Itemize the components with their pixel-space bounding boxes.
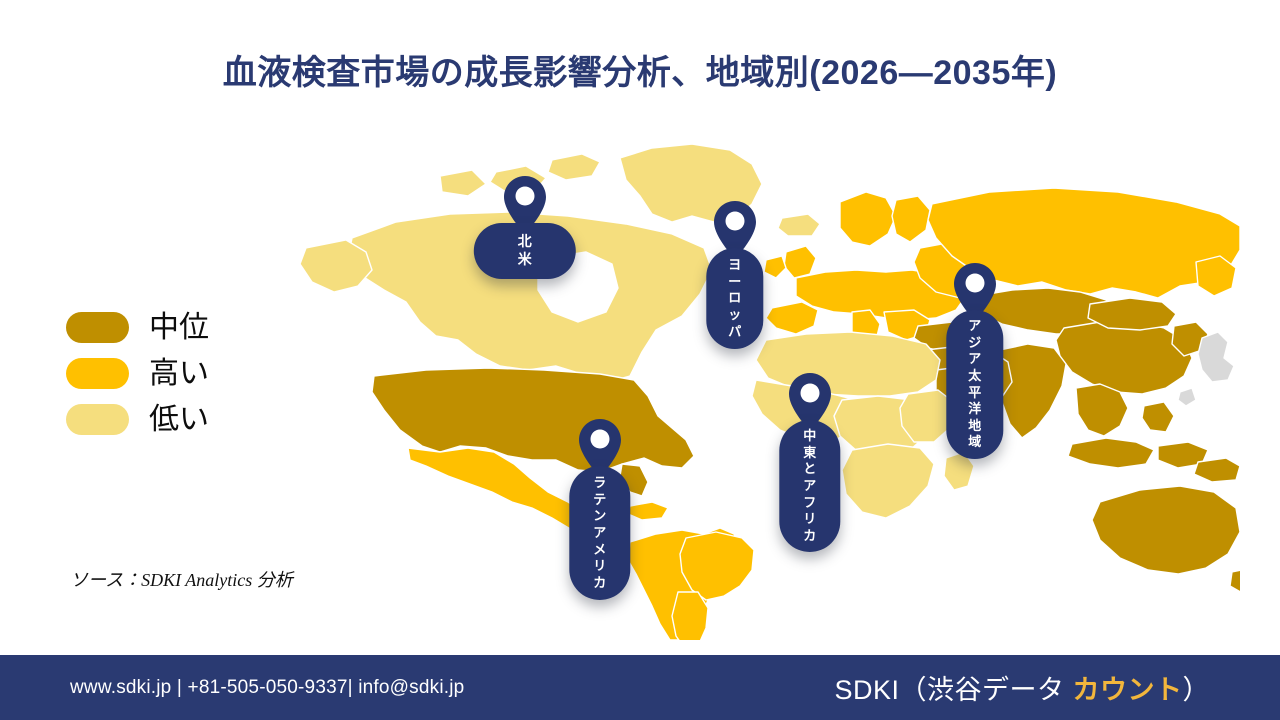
legend-item-high: 高い: [66, 358, 209, 389]
footer-brand-suffix: ）: [1183, 675, 1211, 705]
region-taiwan: [1178, 388, 1196, 406]
map-pin-label-middle-east-africa[interactable]: 中東 とアフリカ: [779, 420, 840, 552]
region-southern-africa: [842, 444, 934, 518]
footer-bar: www.sdki.jp | +81-505-050-9337| info@sdk…: [0, 655, 1280, 720]
region-new-zealand-south: [1230, 568, 1240, 594]
legend-swatch-low: [66, 404, 129, 435]
region-philippines: [1142, 402, 1174, 432]
map-legend: 中位 高い 低い: [66, 312, 209, 435]
footer-brand-prefix: SDKI（渋谷データ: [834, 675, 1072, 705]
region-caribbean: [628, 502, 668, 520]
region-iberia: [766, 302, 818, 334]
world-map: [300, 130, 1240, 640]
map-pin-label-asia-pacific[interactable]: アジア太平洋 地域: [946, 310, 1003, 459]
region-japan: [1198, 332, 1234, 382]
source-note: ソース：SDKI Analytics 分析: [70, 566, 293, 592]
slide-root: 血液検査市場の成長影響分析、地域別(2026—2035年) 中位 高い 低い ソ…: [0, 0, 1280, 720]
region-southeast-asia: [1076, 384, 1128, 436]
footer-brand-accent: カウント: [1073, 675, 1183, 705]
legend-item-medium: 中位: [66, 312, 209, 343]
region-papua: [1194, 458, 1240, 482]
legend-label-low: 低い: [149, 405, 209, 435]
region-mongolia: [1088, 298, 1176, 330]
legend-label-high: 高い: [149, 359, 209, 389]
region-ireland: [764, 256, 786, 278]
region-brazil: [680, 532, 754, 600]
region-indonesia-a: [1068, 438, 1154, 468]
footer-brand: SDKI（渋谷データ カウント）: [834, 668, 1210, 707]
region-australia: [1092, 486, 1240, 574]
map-pin-label-latin-america[interactable]: ラテンアメリカ: [569, 466, 630, 600]
region-finland-baltic: [892, 196, 930, 242]
region-arctic-islands-a: [548, 154, 600, 180]
legend-swatch-medium: [66, 312, 129, 343]
page-title: 血液検査市場の成長影響分析、地域別(2026—2035年): [0, 52, 1280, 95]
footer-contact-info[interactable]: www.sdki.jp | +81-505-050-9337| info@sdk…: [70, 677, 464, 699]
region-british-isles: [784, 246, 816, 278]
legend-swatch-high: [66, 358, 129, 389]
map-pin-label-europe[interactable]: ヨーロッパ: [706, 248, 763, 349]
region-arctic-islands-c: [440, 170, 486, 196]
legend-label-medium: 中位: [149, 313, 209, 343]
map-pin-label-north-america[interactable]: 北米: [474, 223, 576, 279]
region-scandinavia: [840, 192, 896, 246]
region-china: [1056, 322, 1192, 394]
region-argentina-chile: [672, 592, 708, 640]
region-iceland: [778, 214, 820, 236]
legend-item-low: 低い: [66, 404, 209, 435]
